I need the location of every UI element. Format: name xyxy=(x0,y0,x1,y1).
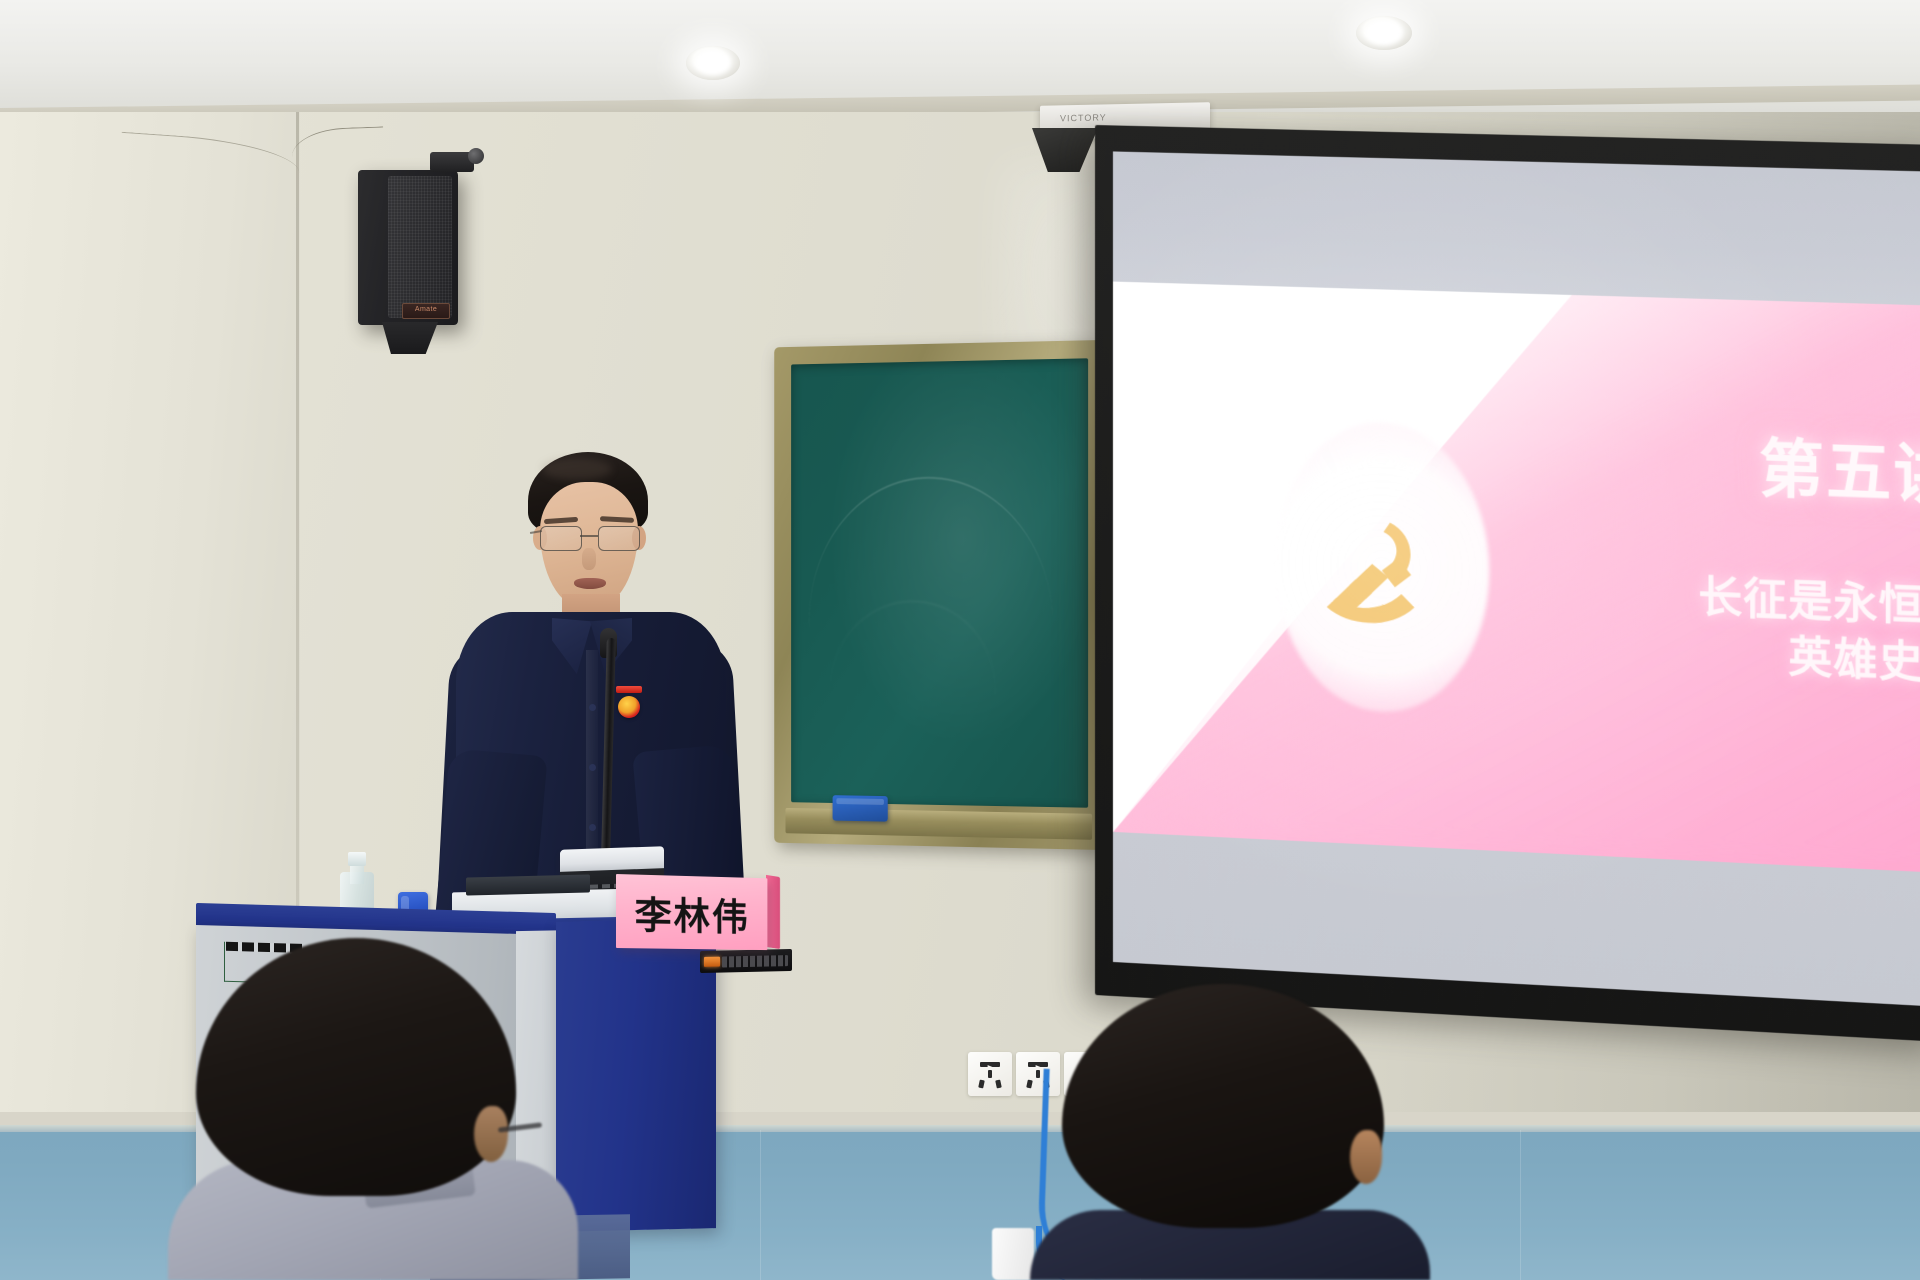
slide-subtitle-line-2: 英雄史诗 xyxy=(1698,625,1920,693)
party-emblem-icon xyxy=(1275,419,1489,717)
audience-right-head xyxy=(1062,984,1384,1228)
slide-title: 第五讲 xyxy=(1759,435,1920,509)
ceiling-downlight-left xyxy=(686,46,740,80)
eyeglasses-icon xyxy=(538,526,642,550)
wall-loudspeaker: Amate xyxy=(358,170,458,325)
shirt-button xyxy=(589,704,596,711)
bottle-neck xyxy=(350,864,364,884)
shirt-button xyxy=(589,764,596,771)
ceiling-downlight-right xyxy=(1356,16,1412,50)
projection-letterbox-top xyxy=(1113,151,1920,305)
lectern-side-panel xyxy=(556,918,716,1232)
board-eraser xyxy=(833,795,888,822)
projected-image: 第五讲 长征是永恒的 英雄史诗 xyxy=(1113,151,1920,1007)
eyeglass-lens-right xyxy=(598,526,640,551)
presenter-mouth xyxy=(574,578,606,589)
chalkboard-frame xyxy=(774,340,1102,850)
lapel-pin-ribbon xyxy=(616,686,642,693)
presentation-slide: 第五讲 长征是永恒的 英雄史诗 xyxy=(1113,281,1920,873)
loudspeaker-brand-badge: Amate xyxy=(402,303,450,319)
lectern-control-panel[interactable] xyxy=(700,949,792,973)
audience-right-ear xyxy=(1350,1130,1382,1184)
shirt-button xyxy=(589,824,596,831)
classroom-scene: Amate VICTORY xyxy=(0,0,1920,1280)
laptop-lid xyxy=(466,874,590,895)
audience-member-left xyxy=(168,950,578,1280)
party-emblem-lapel-pin-icon xyxy=(618,696,640,718)
audience-left-ear xyxy=(474,1106,508,1162)
name-placard: 李林伟 xyxy=(616,874,767,950)
eyeglass-lens-left xyxy=(540,526,582,551)
loudspeaker-mount-knob xyxy=(468,148,484,164)
name-placard-text: 李林伟 xyxy=(616,874,767,950)
screen-brand-label: VICTORY xyxy=(1060,112,1107,123)
presenter-nose xyxy=(582,548,596,570)
placard-fold-edge xyxy=(766,875,780,949)
projection-screen: 第五讲 长征是永恒的 英雄史诗 xyxy=(1095,125,1920,1042)
control-panel-led-display xyxy=(704,957,720,967)
bottle-cap xyxy=(348,852,366,866)
chalkboard xyxy=(762,340,1102,850)
presenter xyxy=(440,452,740,932)
power-outlet-1 xyxy=(968,1052,1012,1096)
eyeglass-bridge xyxy=(580,535,598,537)
slide-subtitle: 长征是永恒的 英雄史诗 xyxy=(1698,568,1920,693)
audience-member-right xyxy=(1020,990,1440,1280)
chalkboard-surface xyxy=(791,358,1088,807)
control-panel-keys[interactable] xyxy=(722,955,788,967)
slide-subtitle-line-1: 长征是永恒的 xyxy=(1698,568,1920,636)
chalk-tray xyxy=(785,808,1092,840)
audience-left-head xyxy=(196,938,516,1196)
projection-screen-surface: 第五讲 长征是永恒的 英雄史诗 xyxy=(1113,151,1920,1007)
loudspeaker-grille xyxy=(388,176,452,318)
